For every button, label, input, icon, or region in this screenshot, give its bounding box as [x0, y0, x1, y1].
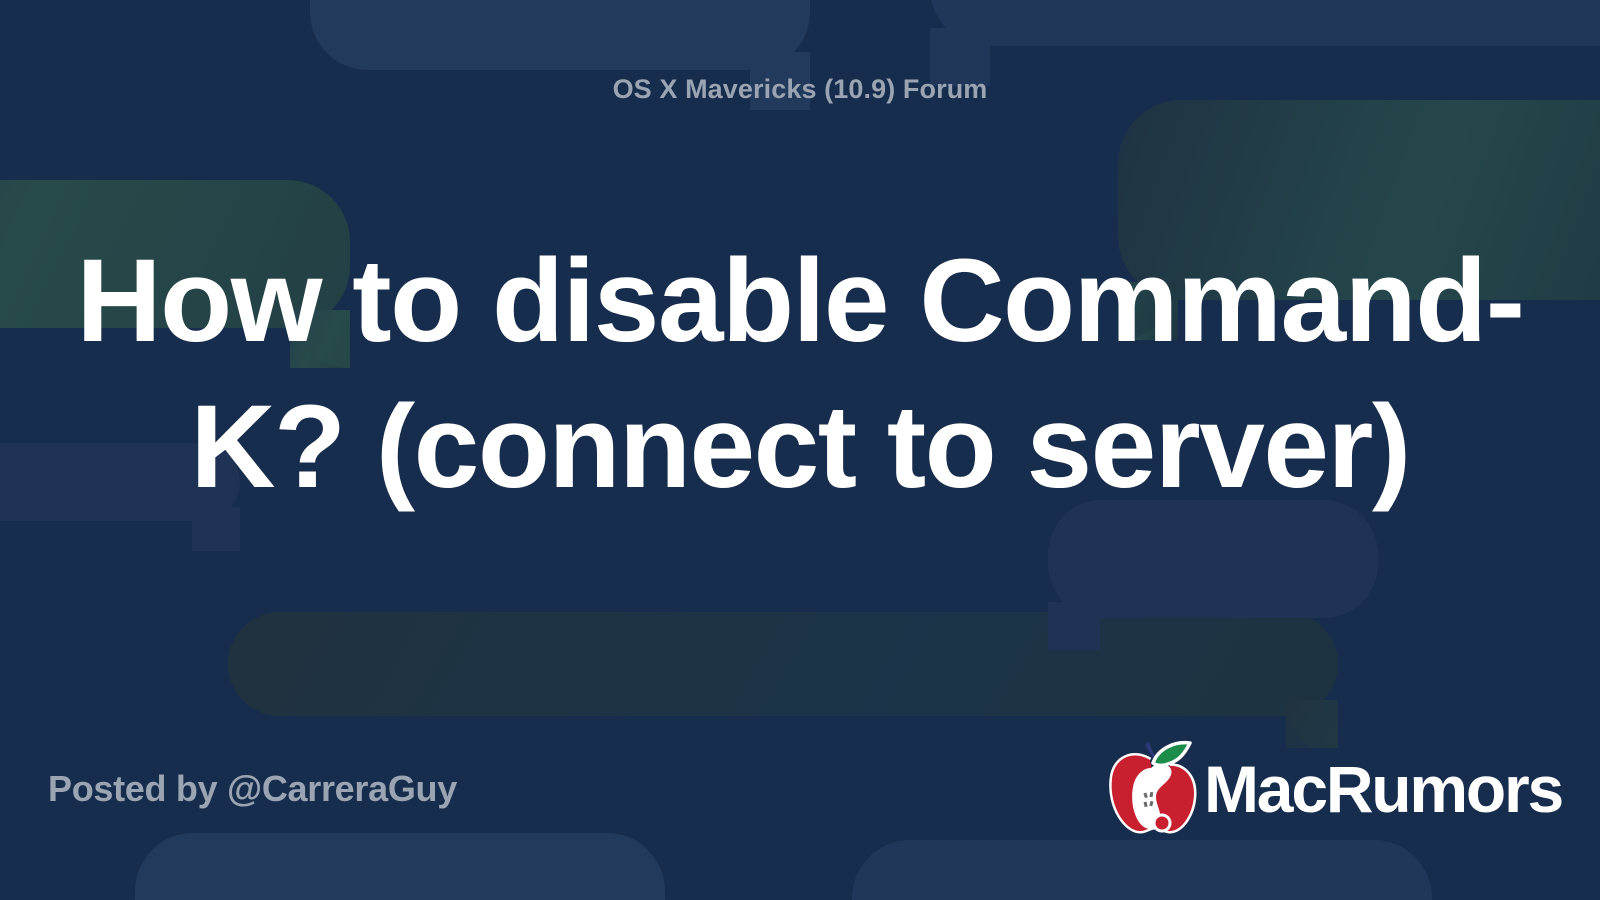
- macrumors-logo: MacRumors: [1104, 735, 1562, 837]
- post-author-line: Posted by @CarreraGuy: [48, 768, 457, 810]
- question-mark-dot-icon: [1154, 815, 1170, 831]
- forum-name-label: OS X Mavericks (10.9) Forum: [0, 74, 1600, 105]
- share-card: OS X Mavericks (10.9) Forum How to disab…: [0, 0, 1600, 900]
- card-content: OS X Mavericks (10.9) Forum How to disab…: [0, 0, 1600, 900]
- apple-leaf-icon: [1153, 743, 1190, 766]
- post-title: How to disable Command-K? (connect to se…: [60, 228, 1540, 521]
- macrumors-apple-icon: [1104, 735, 1200, 837]
- macrumors-wordmark: MacRumors: [1204, 756, 1562, 822]
